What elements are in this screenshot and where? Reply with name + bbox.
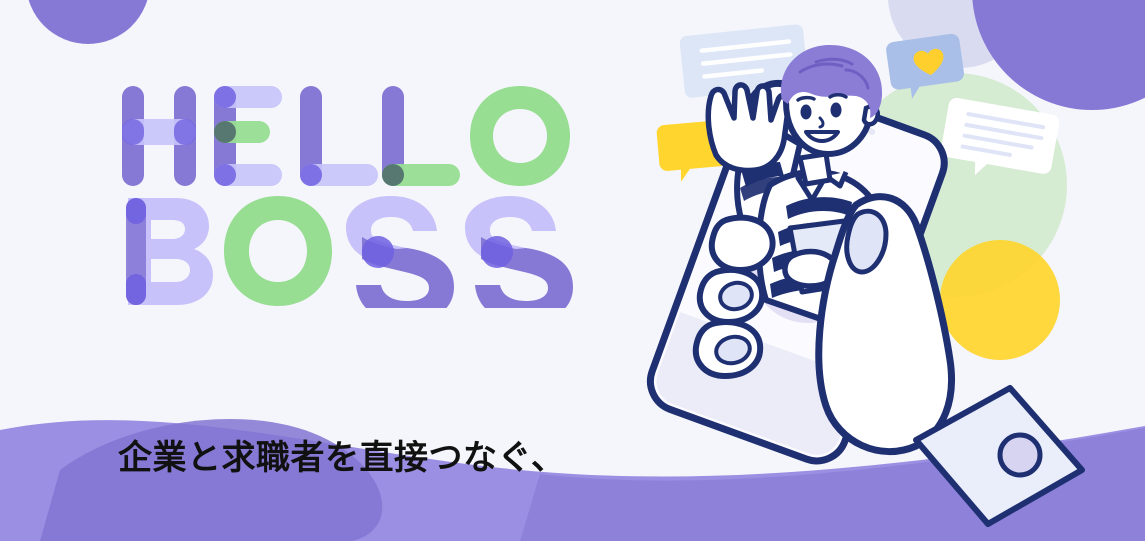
- chat-bubble-heart: [885, 33, 966, 102]
- logo-letter-L2: [382, 86, 460, 186]
- character-neck: [800, 154, 830, 184]
- logo-letter-O2: [224, 196, 332, 306]
- tagline-line-1: 企業と求職者を直接つなぐ、: [118, 432, 758, 485]
- logo-letter-O1: [470, 86, 570, 186]
- tagline: 企業と求職者を直接つなぐ、 第3世代AI人材マッチングアプリ: [118, 327, 758, 541]
- logo-letter-H: [122, 86, 196, 186]
- logo-letter-E: [214, 86, 282, 186]
- logo-line1-hello: [122, 86, 570, 186]
- cuff-button: [1000, 435, 1040, 475]
- character-mouth: [806, 132, 838, 141]
- character-waving-hand: [708, 85, 789, 171]
- logo-svg: [118, 78, 588, 308]
- hero-banner: 企業と求職者を直接つなぐ、 第3世代AI人材マッチングアプリ: [0, 0, 1145, 541]
- chat-bubble-white-lines: [937, 97, 1060, 188]
- character-eye-left: [801, 105, 812, 120]
- logo-letter-S1: [346, 196, 454, 308]
- logo-letter-B: [126, 198, 213, 305]
- logo-line2-boss: [126, 196, 573, 308]
- logo-hello-boss: [118, 78, 588, 308]
- character-eye-right: [831, 103, 842, 118]
- logo-letter-S2: [465, 196, 573, 308]
- logo-letter-L1: [300, 86, 378, 186]
